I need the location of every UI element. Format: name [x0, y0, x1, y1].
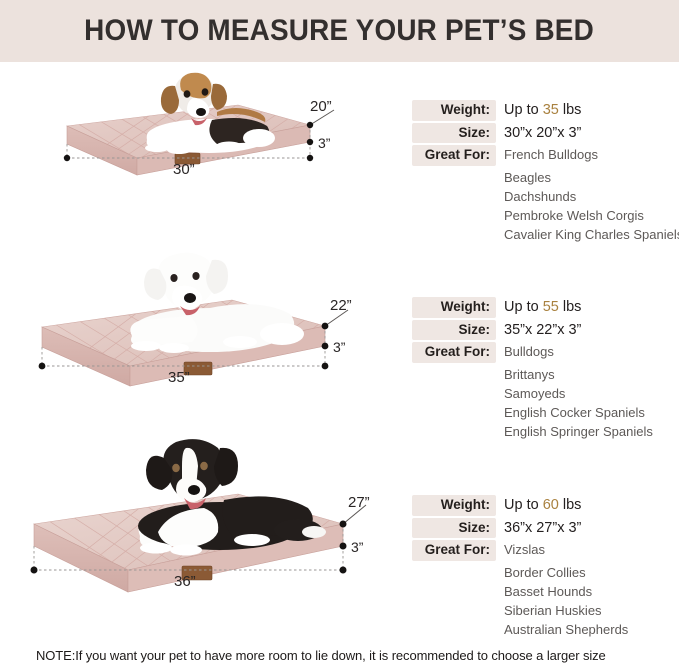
dim-dot — [322, 363, 329, 370]
weight-number: 35 — [543, 102, 559, 118]
great-for-label: Great For: — [412, 540, 496, 561]
dimension-width-large: 27” — [348, 494, 370, 511]
breed-list-large: Border Collies Basset Hounds Siberian Hu… — [504, 563, 679, 639]
breed-list-medium: Brittanys Samoyeds English Cocker Spanie… — [504, 365, 679, 441]
dim-dot — [31, 567, 38, 574]
size-row: Size: 36”x 27”x 3” — [412, 518, 679, 539]
size-value: 35”x 22”x 3” — [504, 322, 581, 339]
breed-item: Pembroke Welsh Corgis — [504, 206, 679, 225]
size-row: Size: 30”x 20”x 3” — [412, 123, 679, 144]
breed-item: Border Collies — [504, 563, 679, 582]
breed-item: Brittanys — [504, 365, 679, 384]
dog-samoyed-image — [100, 250, 315, 370]
dimension-length-large: 36” — [174, 573, 196, 590]
great-for-row: Great For: Bulldogs — [412, 342, 679, 363]
header-band: HOW TO MEASURE YOUR PET’S BED — [0, 0, 679, 62]
dimension-length-small: 30” — [173, 161, 195, 178]
breed-item: Beagles — [504, 168, 679, 187]
great-for-row: Great For: Vizslas — [412, 540, 679, 561]
weight-suffix: lbs — [559, 497, 582, 513]
dimension-height-small: 3” — [318, 135, 330, 151]
breed-item: Dachshunds — [504, 187, 679, 206]
size-value: 36”x 27”x 3” — [504, 520, 581, 537]
great-for-row: Great For: French Bulldogs — [412, 145, 679, 166]
weight-row: Weight: Up to 35 lbs — [412, 100, 679, 121]
dimension-height-large: 3” — [351, 539, 363, 555]
size-value: 30”x 20”x 3” — [504, 125, 581, 142]
size-section-medium: 22” 3” 35” Weight: Up to 55 lbs Size: 35… — [0, 252, 679, 427]
weight-number: 60 — [543, 497, 559, 513]
footer-note: NOTE:If you want your pet to have more r… — [36, 648, 606, 663]
bed-illustration-medium: 22” 3” 35” — [0, 252, 400, 427]
weight-label: Weight: — [412, 495, 496, 516]
dim-dot — [340, 567, 347, 574]
bed-illustration-large: 27” 3” 36” — [0, 432, 400, 627]
breed-item: Australian Shepherds — [504, 620, 679, 639]
breed-item: Samoyeds — [504, 384, 679, 403]
dim-dot — [64, 155, 70, 161]
weight-value: Up to 35 lbs — [504, 102, 581, 119]
size-row: Size: 35”x 22”x 3” — [412, 320, 679, 341]
weight-prefix: Up to — [504, 497, 543, 513]
size-section-small: 20” 3” 30” Weight: Up to 35 lbs Size: 30… — [0, 68, 679, 228]
dog-border-collie-image — [100, 436, 330, 571]
weight-number: 55 — [543, 299, 559, 315]
page-title: HOW TO MEASURE YOUR PET’S BED — [85, 14, 595, 48]
dim-dot — [307, 155, 313, 161]
dimension-width-small: 20” — [310, 98, 332, 115]
weight-label: Weight: — [412, 100, 496, 121]
dim-dot — [307, 122, 313, 128]
dimension-length-medium: 35” — [168, 369, 190, 386]
breed-item: English Cocker Spaniels — [504, 403, 679, 422]
size-label: Size: — [412, 320, 496, 341]
weight-row: Weight: Up to 60 lbs — [412, 495, 679, 516]
info-panel-small: Weight: Up to 35 lbs Size: 30”x 20”x 3” … — [412, 100, 679, 244]
breed-item: French Bulldogs — [504, 147, 598, 163]
weight-prefix: Up to — [504, 299, 543, 315]
weight-label: Weight: — [412, 297, 496, 318]
dim-dot — [322, 343, 329, 350]
breed-item: Basset Hounds — [504, 582, 679, 601]
info-panel-medium: Weight: Up to 55 lbs Size: 35”x 22”x 3” … — [412, 297, 679, 441]
dim-dot — [39, 363, 46, 370]
size-label: Size: — [412, 123, 496, 144]
infographic-page: HOW TO MEASURE YOUR PET’S BED — [0, 0, 679, 668]
size-section-large: 27” 3” 36” Weight: Up to 60 lbs Size: 36… — [0, 432, 679, 627]
info-panel-large: Weight: Up to 60 lbs Size: 36”x 27”x 3” … — [412, 495, 679, 639]
great-for-label: Great For: — [412, 145, 496, 166]
breed-item: Bulldogs — [504, 344, 554, 360]
bed-illustration-small: 20” 3” 30” — [0, 68, 400, 228]
breed-list-small: Beagles Dachshunds Pembroke Welsh Corgis… — [504, 168, 679, 244]
size-label: Size: — [412, 518, 496, 539]
weight-value: Up to 55 lbs — [504, 299, 581, 316]
dimension-width-medium: 22” — [330, 297, 352, 314]
dog-beagle-image — [117, 68, 297, 168]
dim-dot — [307, 139, 313, 145]
dim-dot — [340, 521, 347, 528]
weight-prefix: Up to — [504, 102, 543, 118]
breed-item: Vizslas — [504, 542, 545, 558]
weight-value: Up to 60 lbs — [504, 497, 581, 514]
dimension-height-medium: 3” — [333, 339, 345, 355]
weight-suffix: lbs — [559, 299, 582, 315]
breed-item: Siberian Huskies — [504, 601, 679, 620]
dim-dot — [322, 323, 329, 330]
weight-suffix: lbs — [559, 102, 582, 118]
weight-row: Weight: Up to 55 lbs — [412, 297, 679, 318]
great-for-label: Great For: — [412, 342, 496, 363]
breed-item: Cavalier King Charles Spaniels — [504, 225, 679, 244]
dim-dot — [340, 543, 347, 550]
